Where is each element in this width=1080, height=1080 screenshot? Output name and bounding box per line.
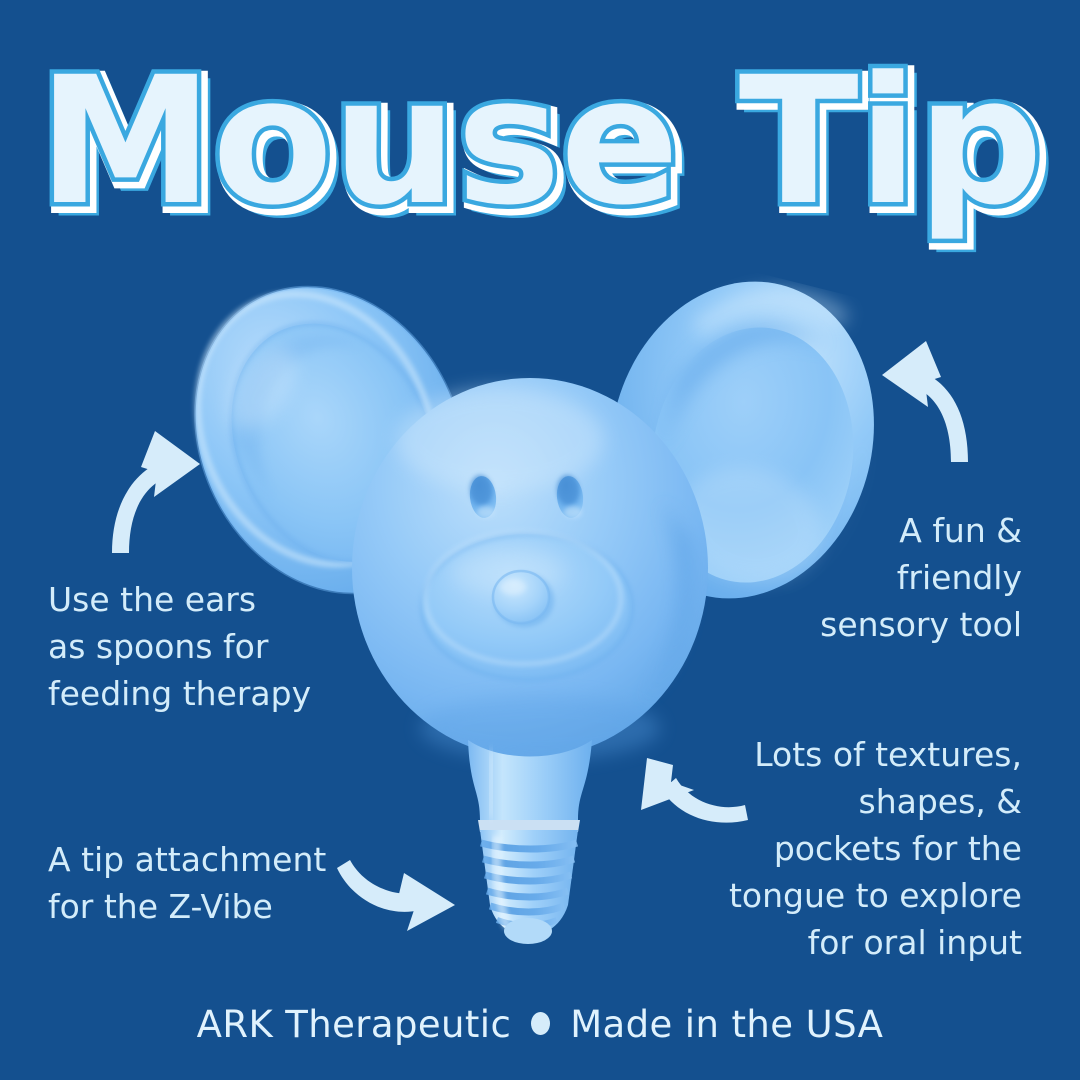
title-fill: Mouse Tip bbox=[0, 42, 1080, 242]
caption-fun-friendly: A fun & friendly sensory tool bbox=[702, 507, 1022, 648]
caption-tip-attachment: A tip attachment for the Z-Vibe bbox=[48, 836, 388, 930]
snout bbox=[422, 532, 632, 680]
footer-bar: ARK TherapeuticMade in the USA bbox=[0, 1003, 1080, 1046]
head bbox=[352, 378, 708, 760]
nose bbox=[493, 571, 554, 627]
neck bbox=[468, 740, 592, 820]
caption-use-the-ears: Use the ears as spoons for feeding thera… bbox=[48, 576, 378, 717]
threaded-stem bbox=[478, 820, 580, 944]
right-eye bbox=[555, 474, 585, 519]
page-title: Mouse Tip Mouse Tip Mouse Tip Mouse Tip bbox=[0, 42, 1080, 272]
footer-separator-dot bbox=[531, 1012, 550, 1035]
left-eye bbox=[468, 474, 498, 519]
arrow-to-left-ear bbox=[112, 431, 200, 553]
mouse-tip-product-poster: Mouse Tip Mouse Tip Mouse Tip Mouse Tip bbox=[0, 0, 1080, 1080]
caption-lots-of-textures: Lots of textures, shapes, & pockets for … bbox=[692, 731, 1022, 966]
arrow-to-right-ear bbox=[882, 341, 968, 462]
footer-brand: ARK Therapeutic bbox=[197, 1003, 512, 1046]
footer-origin: Made in the USA bbox=[570, 1003, 883, 1046]
